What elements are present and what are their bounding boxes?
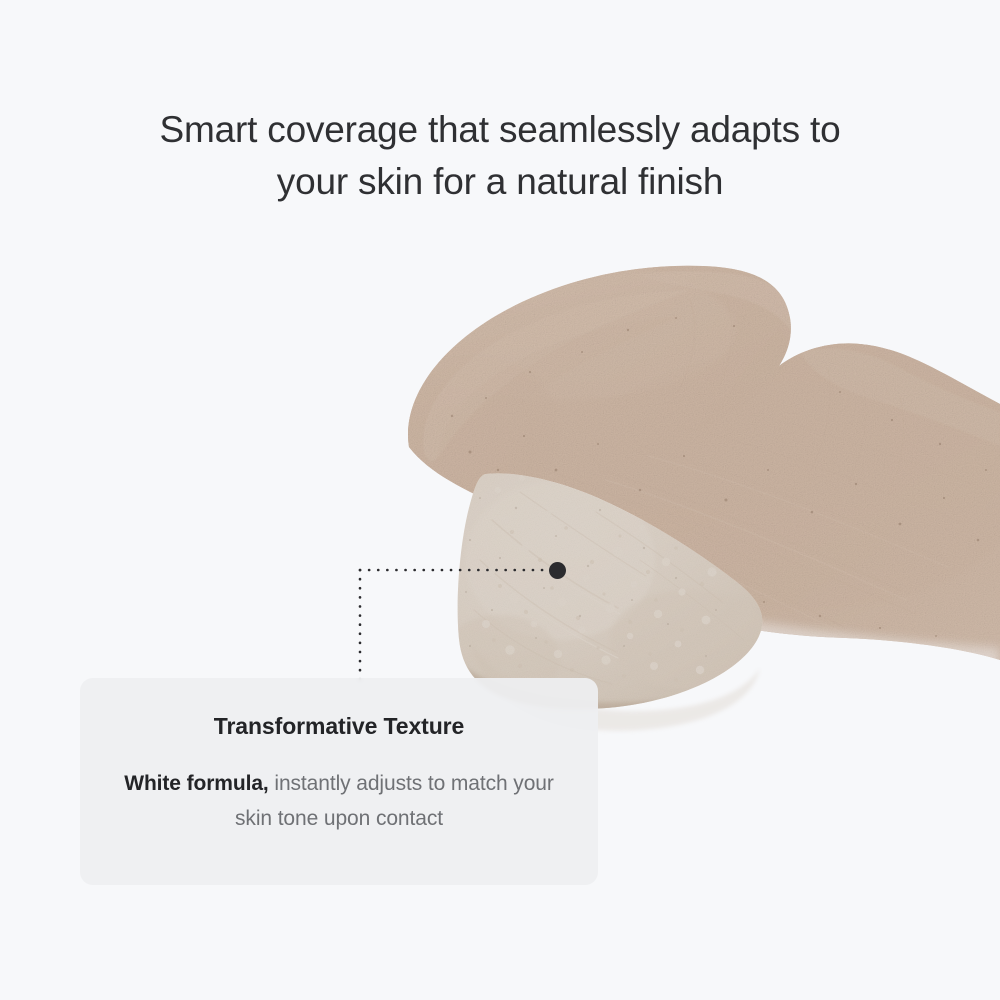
info-card-body-lead: White formula, <box>124 772 268 795</box>
texture-hotspot-dot[interactable] <box>549 562 566 579</box>
product-feature-graphic: Smart coverage that seamlessly adapts to… <box>0 0 1000 1000</box>
info-card: Transformative Texture White formula, in… <box>80 678 598 885</box>
info-card-title: Transformative Texture <box>108 712 570 740</box>
info-card-body-rest: instantly adjusts to match your skin ton… <box>235 772 554 830</box>
info-card-body: White formula, instantly adjusts to matc… <box>108 766 570 836</box>
